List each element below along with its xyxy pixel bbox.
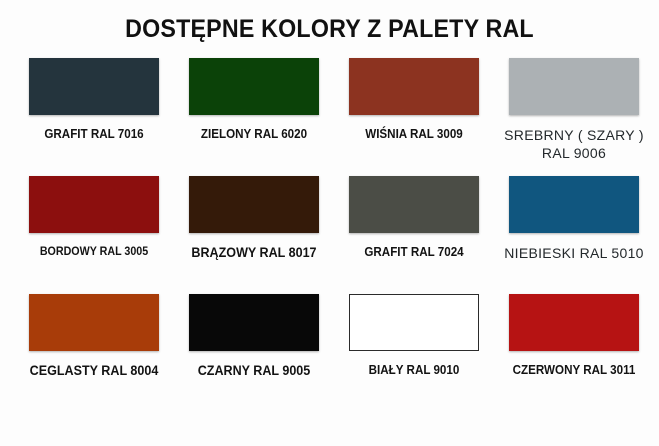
swatch-grid: GRAFIT RAL 7016ZIELONY RAL 6020WIŚNIA RA… bbox=[0, 58, 659, 412]
swatch-label: NIEBIESKI RAL 5010 bbox=[494, 245, 654, 263]
swatch-label: CZERWONY RAL 3011 bbox=[500, 363, 649, 379]
swatch-cell[interactable]: BRĄZOWY RAL 8017 bbox=[174, 176, 334, 294]
swatch-label-line: CZERWONY RAL 3011 bbox=[500, 363, 649, 379]
swatch-label-line: WIŚNIA RAL 3009 bbox=[340, 127, 489, 143]
swatch-cell[interactable]: GRAFIT RAL 7016 bbox=[14, 58, 174, 176]
swatch-label: CZARNY RAL 9005 bbox=[180, 363, 329, 380]
swatch-label-line: ZIELONY RAL 6020 bbox=[180, 127, 329, 143]
swatch-cell[interactable]: ZIELONY RAL 6020 bbox=[174, 58, 334, 176]
swatch-label: SREBRNY ( SZARY )RAL 9006 bbox=[494, 127, 654, 162]
color-swatch[interactable] bbox=[189, 294, 319, 351]
color-palette-page: DOSTĘPNE KOLORY Z PALETY RAL GRAFIT RAL … bbox=[0, 0, 659, 446]
swatch-label: BRĄZOWY RAL 8017 bbox=[180, 245, 329, 262]
swatch-label-line: NIEBIESKI RAL 5010 bbox=[494, 245, 654, 263]
color-swatch[interactable] bbox=[189, 176, 319, 233]
swatch-label-line: RAL 9006 bbox=[494, 145, 654, 163]
swatch-cell[interactable]: CZERWONY RAL 3011 bbox=[494, 294, 654, 412]
swatch-cell[interactable]: BIAŁY RAL 9010 bbox=[334, 294, 494, 412]
swatch-label: BIAŁY RAL 9010 bbox=[340, 363, 489, 379]
swatch-cell[interactable]: NIEBIESKI RAL 5010 bbox=[494, 176, 654, 294]
color-swatch[interactable] bbox=[509, 58, 639, 115]
color-swatch[interactable] bbox=[349, 294, 479, 351]
swatch-label-line: CZARNY RAL 9005 bbox=[180, 363, 329, 380]
color-swatch[interactable] bbox=[29, 176, 159, 233]
color-swatch[interactable] bbox=[29, 58, 159, 115]
color-swatch[interactable] bbox=[509, 294, 639, 351]
swatch-label: WIŚNIA RAL 3009 bbox=[340, 127, 489, 143]
swatch-cell[interactable]: BORDOWY RAL 3005 bbox=[14, 176, 174, 294]
swatch-cell[interactable]: GRAFIT RAL 7024 bbox=[334, 176, 494, 294]
color-swatch[interactable] bbox=[349, 176, 479, 233]
swatch-cell[interactable]: CEGLASTY RAL 8004 bbox=[14, 294, 174, 412]
page-title: DOSTĘPNE KOLORY Z PALETY RAL bbox=[23, 0, 636, 44]
color-swatch[interactable] bbox=[349, 58, 479, 115]
swatch-label-line: BIAŁY RAL 9010 bbox=[340, 363, 489, 379]
swatch-label-line: GRAFIT RAL 7024 bbox=[340, 245, 489, 261]
swatch-label-line: SREBRNY ( SZARY ) bbox=[494, 127, 654, 145]
swatch-label: GRAFIT RAL 7016 bbox=[20, 127, 169, 143]
swatch-label: GRAFIT RAL 7024 bbox=[340, 245, 489, 261]
swatch-label-line: CEGLASTY RAL 8004 bbox=[20, 363, 169, 380]
color-swatch[interactable] bbox=[189, 58, 319, 115]
swatch-label-line: BRĄZOWY RAL 8017 bbox=[180, 245, 329, 262]
swatch-label: ZIELONY RAL 6020 bbox=[180, 127, 329, 143]
swatch-cell[interactable]: CZARNY RAL 9005 bbox=[174, 294, 334, 412]
swatch-label-line: GRAFIT RAL 7016 bbox=[20, 127, 169, 143]
swatch-label: BORDOWY RAL 3005 bbox=[20, 245, 169, 259]
color-swatch[interactable] bbox=[29, 294, 159, 351]
swatch-cell[interactable]: SREBRNY ( SZARY )RAL 9006 bbox=[494, 58, 654, 176]
swatch-label-line: BORDOWY RAL 3005 bbox=[20, 245, 169, 259]
swatch-label: CEGLASTY RAL 8004 bbox=[20, 363, 169, 380]
color-swatch[interactable] bbox=[509, 176, 639, 233]
swatch-cell[interactable]: WIŚNIA RAL 3009 bbox=[334, 58, 494, 176]
